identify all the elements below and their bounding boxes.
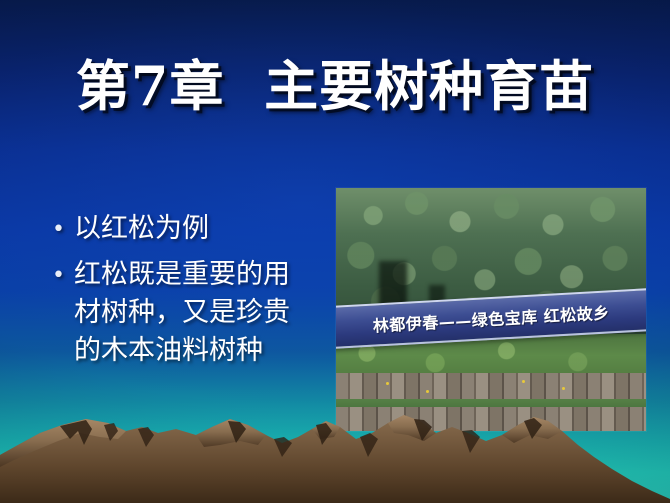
photo-banner-text: 林都伊春——绿色宝库 红松故乡 [372,300,610,337]
list-item: • 以红松为例 [52,210,312,250]
bullet-marker-icon: • [52,210,74,250]
page-title: 第7章 主要树种育苗 [0,58,670,115]
bullet-list: • 以红松为例 • 红松既是重要的用材树种，又是珍贵的木本油料树种 [52,210,312,376]
bullet-text: 红松既是重要的用材树种，又是珍贵的木本油料树种 [74,256,312,370]
bullet-text: 以红松为例 [74,210,312,248]
presentation-slide: 第7章 主要树种育苗 • 以红松为例 • 红松既是重要的用材树种，又是珍贵的木本… [0,0,670,503]
list-item: • 红松既是重要的用材树种，又是珍贵的木本油料树种 [52,256,312,370]
bullet-marker-icon: • [52,256,74,296]
mountain-silhouette [0,393,670,503]
flower-dot [522,380,525,383]
